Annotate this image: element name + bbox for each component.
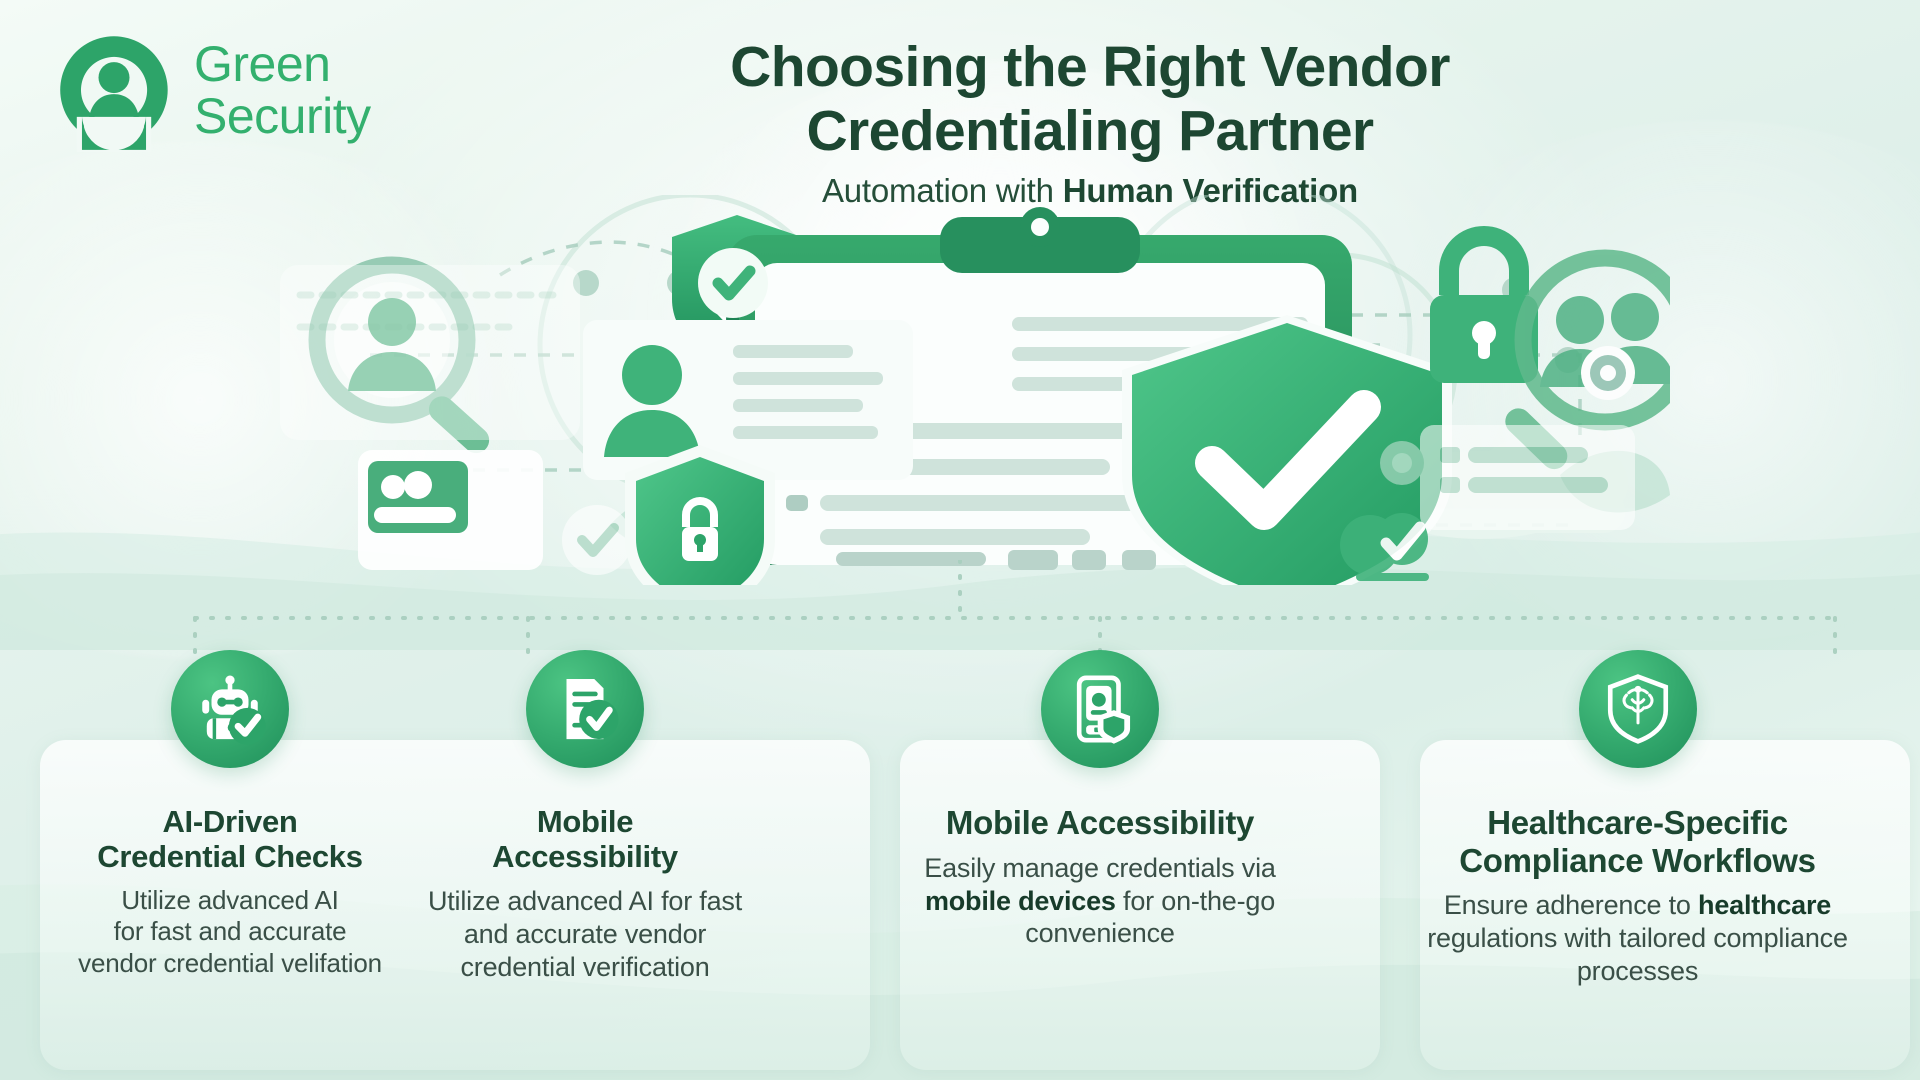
page-title: Choosing the Right Vendor Credentialing … [560, 36, 1620, 164]
card-title: AI-Driven Credential Checks [30, 804, 430, 875]
card-title-line1: Healthcare-Specific [1400, 804, 1875, 842]
card-body-line1: Utilize advanced AI [30, 885, 430, 917]
card-body-emphasis: healthcare [1698, 890, 1831, 920]
feature-card-mobile-accessibility-a[interactable]: Mobile Accessibility Utilize advanced AI… [375, 650, 795, 983]
id-card-icon [358, 450, 543, 570]
card-title-line1: Mobile [375, 804, 795, 839]
card-body: Easily manage credentials via mobile dev… [890, 852, 1310, 951]
brand-logo: Green Security [52, 28, 371, 152]
card-title-line1: Mobile Accessibility [890, 804, 1310, 842]
document-check-icon [526, 650, 644, 768]
feature-card-healthcare-compliance[interactable]: Healthcare-Specific Compliance Workflows… [1400, 650, 1875, 988]
spine-check-icon [698, 248, 768, 318]
card-body-line2: for fast and accurate [30, 916, 430, 948]
card-title-line2: Accessibility [375, 839, 795, 874]
card-body-suffix: regulations with tailored compliance pro… [1427, 923, 1848, 986]
feature-card-ai-driven[interactable]: AI-Driven Credential Checks Utilize adva… [30, 650, 430, 980]
shielded-person-logo-icon [52, 28, 176, 152]
hero-illustration [250, 195, 1670, 585]
card-title-line2: Compliance Workflows [1400, 842, 1875, 880]
profile-card-icon [583, 320, 913, 480]
infographic-canvas: Green Security Choosing the Right Vendor… [0, 0, 1920, 1080]
brand-name-line2: Security [194, 90, 371, 142]
title-block: Choosing the Right Vendor Credentialing … [560, 36, 1620, 210]
card-body-prefix: Ensure adherence to [1444, 890, 1698, 920]
brand-name-line1: Green [194, 38, 371, 90]
card-title: Mobile Accessibility [375, 804, 795, 875]
card-body-prefix: Easily manage credentials via [924, 853, 1275, 883]
page-title-line2: Credentialing Partner [560, 100, 1620, 164]
card-body-line2: and accurate vendor [375, 918, 795, 951]
card-body-line3: credential verification [375, 951, 795, 984]
card-body-emphasis: mobile devices [925, 886, 1116, 916]
robot-check-icon [171, 650, 289, 768]
brand-name: Green Security [194, 38, 371, 142]
card-body: Utilize advanced AI for fast and accurat… [375, 885, 795, 984]
card-body: Utilize advanced AI for fast and accurat… [30, 885, 430, 980]
card-title: Healthcare-Specific Compliance Workflows [1400, 804, 1875, 879]
card-body-line3: vendor credential velifation [30, 948, 430, 980]
card-body-line1: Utilize advanced AI for fast [375, 885, 795, 918]
card-body: Ensure adherence to healthcare regulatio… [1400, 889, 1875, 988]
caduceus-shield-icon [1579, 650, 1697, 768]
card-title-line1: AI-Driven [30, 804, 430, 839]
page-title-line1: Choosing the Right Vendor [560, 36, 1620, 100]
card-title-line2: Credential Checks [30, 839, 430, 874]
mobile-shield-icon [1041, 650, 1159, 768]
card-title: Mobile Accessibility [890, 804, 1310, 842]
feature-card-mobile-accessibility-b[interactable]: Mobile Accessibility Easily manage crede… [890, 650, 1310, 950]
